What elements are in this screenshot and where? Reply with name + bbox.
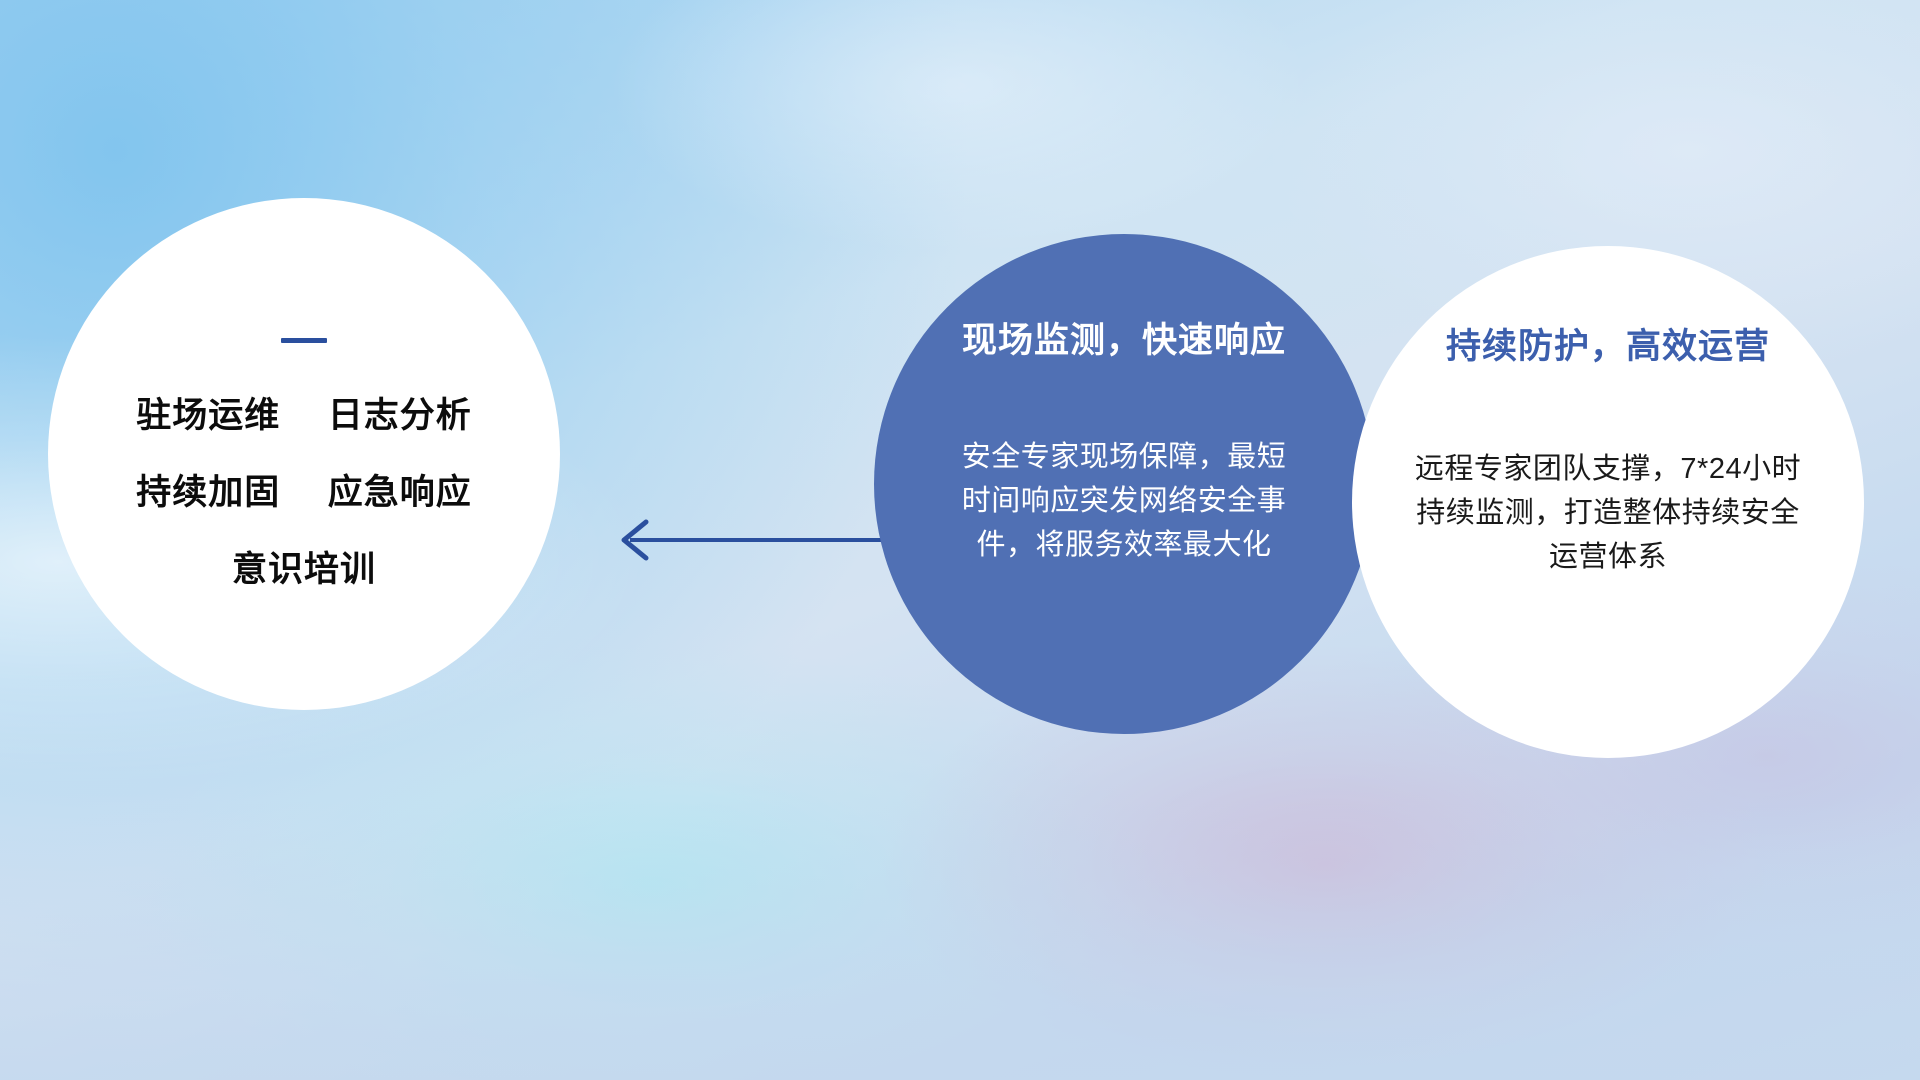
capability-label-1a: 驻场运维 <box>136 396 280 435</box>
capability-label-3a: 意识培训 <box>232 550 376 589</box>
continuous-protection-body: 远程专家团队支撑，7*24小时持续监测，打造整体持续安全运营体系 <box>1408 447 1808 579</box>
capabilities-circle: 驻场运维 日志分析 持续加固 应急响应 意识培训 <box>48 198 560 710</box>
onsite-monitoring-circle: 现场监测，快速响应 安全专家现场保障，最短时间响应突发网络安全事件，将服务效率最… <box>874 234 1374 734</box>
capability-label-2a: 持续加固 <box>136 473 280 512</box>
onsite-monitoring-body: 安全专家现场保障，最短时间响应突发网络安全事件，将服务效率最大化 <box>959 435 1289 567</box>
divider-rule <box>281 338 327 343</box>
arrow-icon <box>600 500 920 580</box>
capability-row-2: 持续加固 应急响应 <box>136 464 472 515</box>
capability-label-2b: 应急响应 <box>328 473 472 512</box>
capability-row-1: 驻场运维 日志分析 <box>136 387 472 438</box>
capability-label-1b: 日志分析 <box>328 396 472 435</box>
onsite-monitoring-title: 现场监测，快速响应 <box>962 312 1286 363</box>
capability-row-3: 意识培训 <box>232 541 376 592</box>
capabilities-list: 驻场运维 日志分析 持续加固 应急响应 意识培训 <box>136 387 472 592</box>
continuous-protection-title: 持续防护，高效运营 <box>1446 318 1770 369</box>
slide-canvas: 驻场运维 日志分析 持续加固 应急响应 意识培训 现场监测，快速响应 安全专家现… <box>0 0 1920 1080</box>
continuous-protection-circle: 持续防护，高效运营 远程专家团队支撑，7*24小时持续监测，打造整体持续安全运营… <box>1352 246 1864 758</box>
